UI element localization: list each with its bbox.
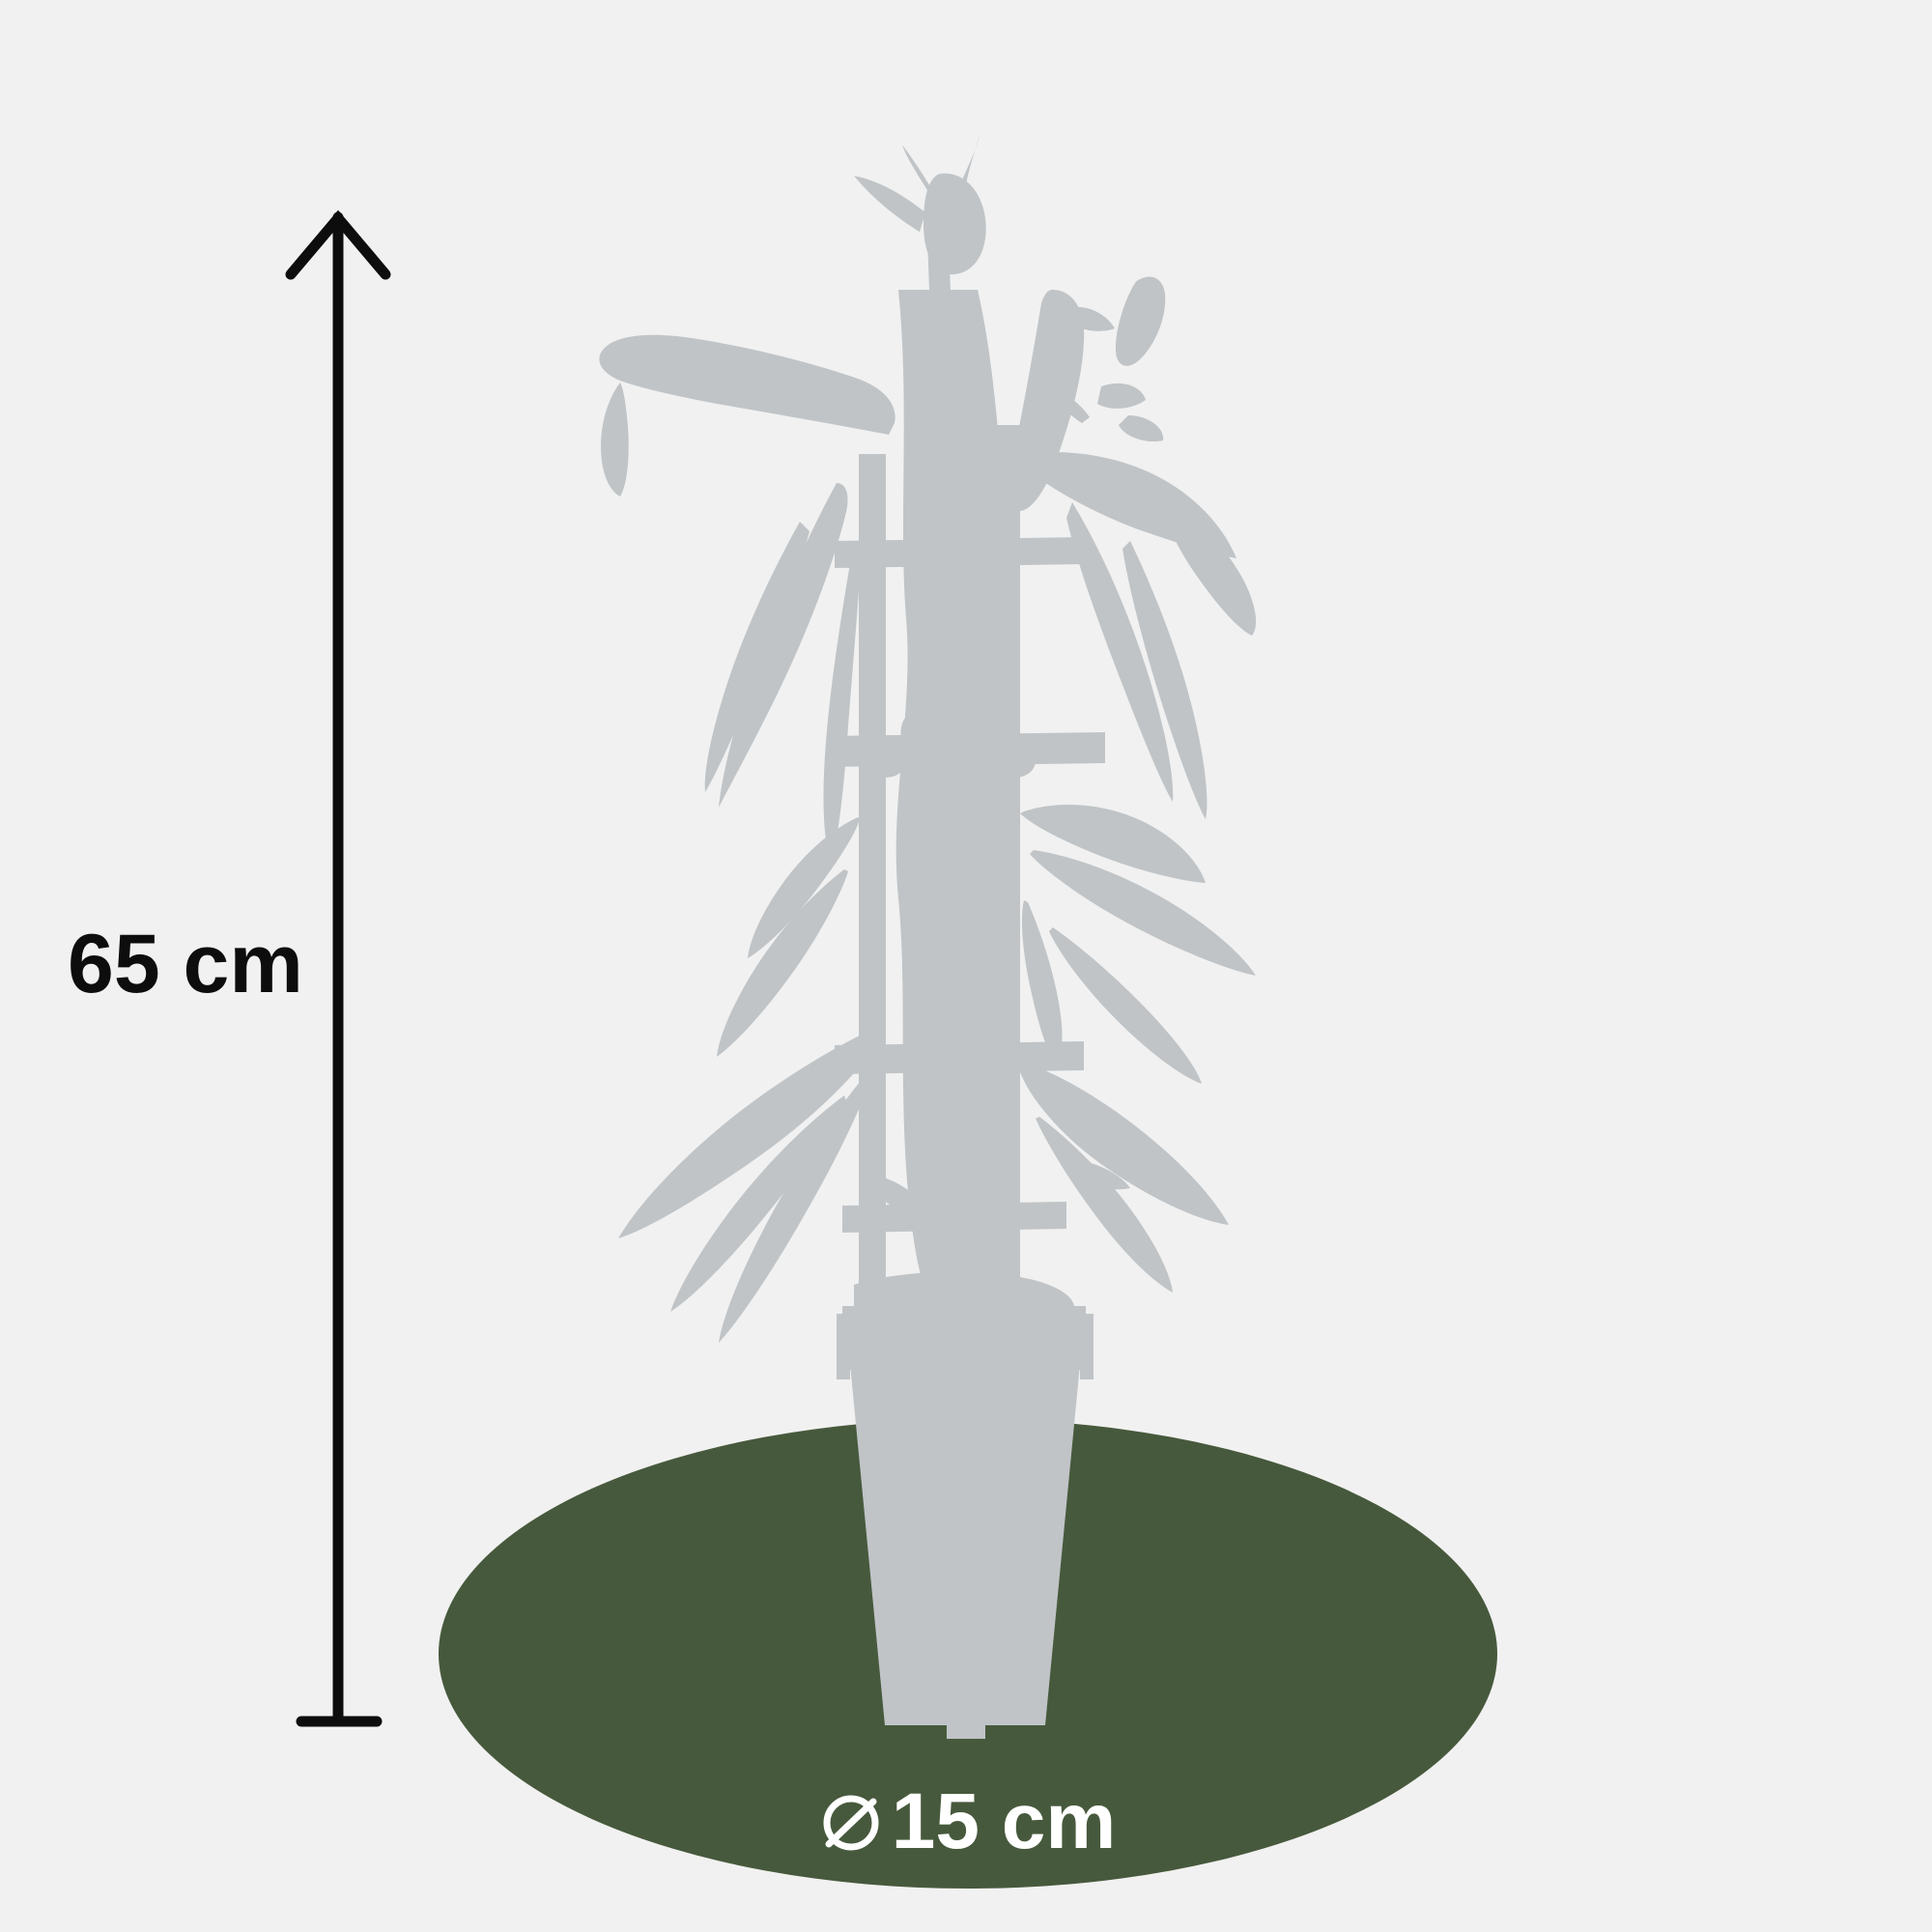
diameter-icon	[816, 1788, 886, 1858]
diameter-value-text: 15 cm	[892, 1777, 1117, 1865]
product-size-diagram: 65 cm 15 cm	[0, 0, 1932, 1932]
height-label: 65 cm	[68, 923, 303, 1006]
diameter-label: 15 cm	[0, 1782, 1932, 1861]
up-arrow-icon	[291, 217, 385, 1721]
